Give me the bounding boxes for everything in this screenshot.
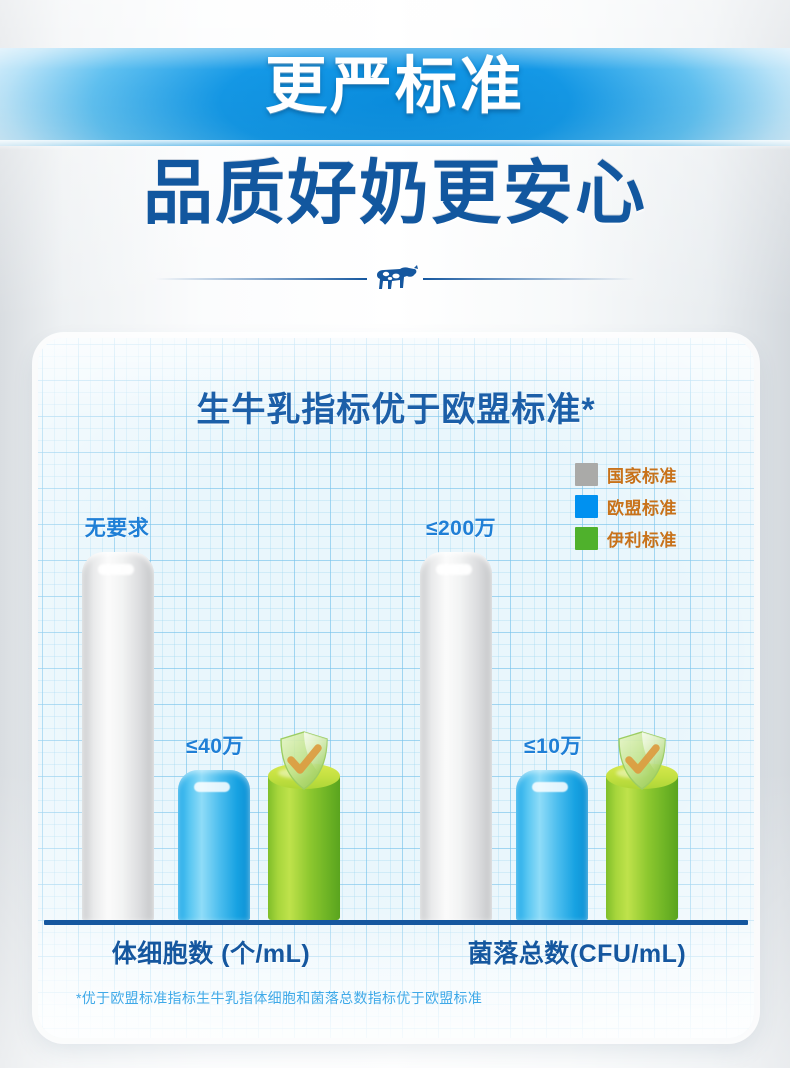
bar-eu-0 <box>178 770 250 920</box>
divider <box>155 262 635 296</box>
chart-plot-area: 无要求 ≤40万 <box>38 338 754 1038</box>
divider-rule-left <box>155 278 367 280</box>
bar-group-somatic-cell: 无要求 ≤40万 <box>60 450 370 920</box>
header-band-shine <box>0 140 790 150</box>
divider-rule-right <box>423 278 635 280</box>
shield-check-icon-1 <box>615 730 669 792</box>
bar-eu-1 <box>516 770 588 920</box>
chart-baseline-axis <box>44 920 748 925</box>
bar-yili-0 <box>268 776 340 920</box>
chart-card: 生牛乳指标优于欧盟标准* 国家标准 欧盟标准 伊利标准 无要求 ≤40万 <box>38 338 754 1038</box>
bar-group-bacteria-count: ≤200万 ≤10万 <box>390 450 700 920</box>
cow-icon <box>367 262 423 296</box>
shield-check-icon-0 <box>277 730 331 792</box>
bar-value-label-eu-1: ≤10万 <box>498 730 608 760</box>
header-banner: 更严标准 品质好奶更安心 <box>0 0 790 310</box>
category-label-somatic-cell: 体细胞数 (个/mL) <box>46 934 376 970</box>
headline-secondary: 品质好奶更安心 <box>0 158 790 228</box>
chart-footnote: *优于欧盟标准指标生牛乳指体细胞和菌落总数指标优于欧盟标准 <box>76 988 736 1008</box>
bar-value-label-eu-0: ≤40万 <box>160 730 270 760</box>
category-label-bacteria-count: 菌落总数(CFU/mL) <box>412 934 742 970</box>
bar-value-label-national-0: 无要求 <box>52 512 182 542</box>
bar-national-0 <box>82 552 154 920</box>
headline-primary: 更严标准 <box>0 56 790 118</box>
bar-national-1 <box>420 552 492 920</box>
bar-yili-1 <box>606 776 678 920</box>
bar-value-label-national-1: ≤200万 <box>396 512 526 542</box>
